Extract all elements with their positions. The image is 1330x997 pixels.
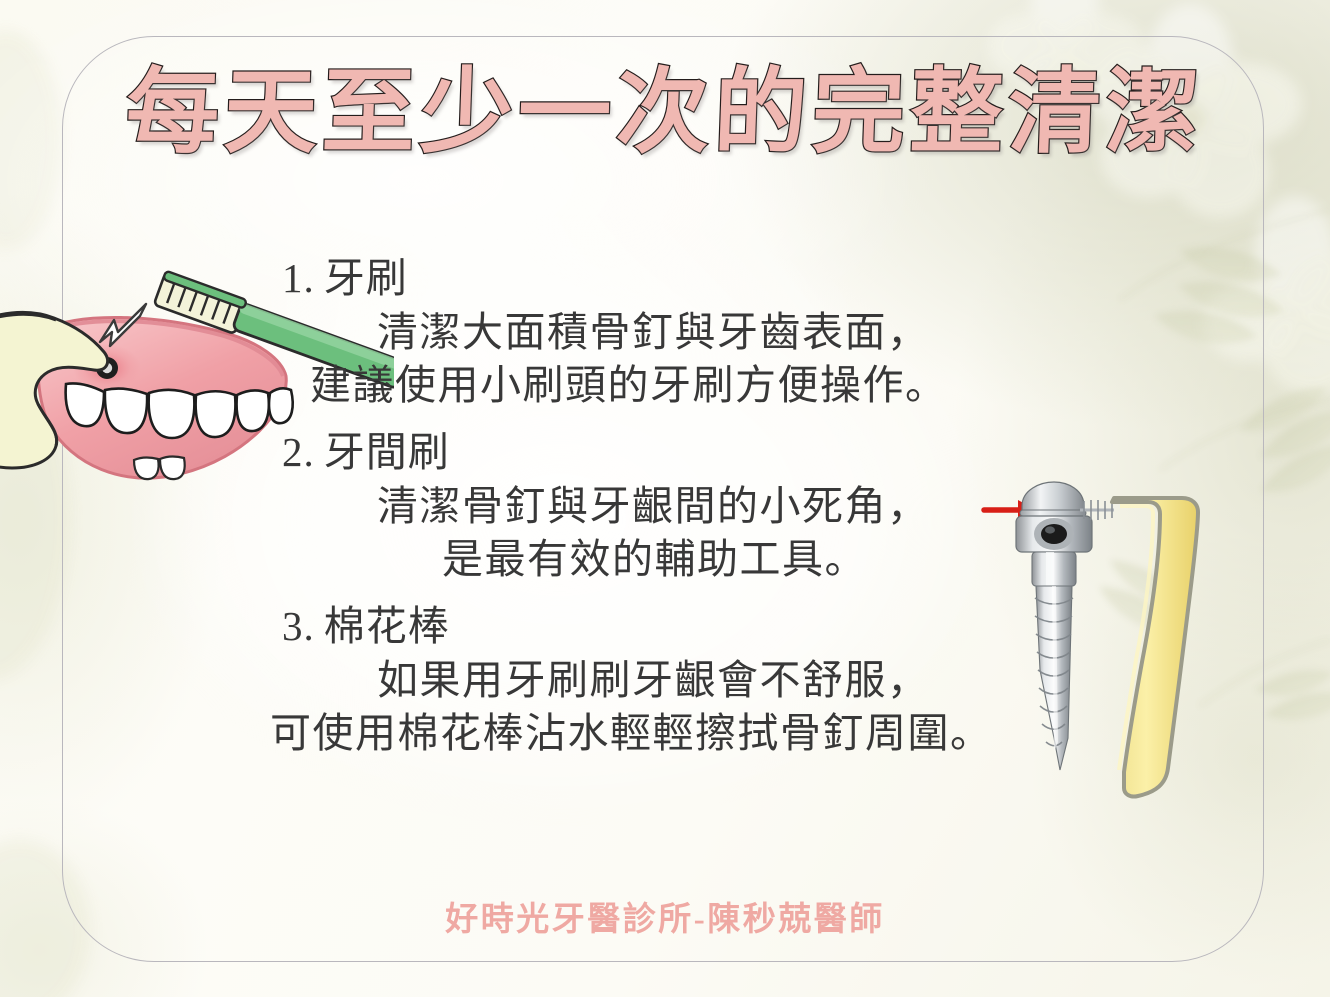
page-title: 每天至少一次的完整清潔 xyxy=(0,62,1330,166)
list-item: 2.牙間刷 清潔骨釘與牙齦間的小死角， 是最有效的輔助工具。 xyxy=(282,432,1022,580)
instruction-list: 1.牙刷 清潔大面積骨釘與牙齒表面， 建議使用小刷頭的牙刷方便操作。 2.牙間刷… xyxy=(282,258,1022,766)
interdental-brush-icon xyxy=(1080,498,1198,797)
slide-canvas: 每天至少一次的完整清潔 xyxy=(0,0,1330,997)
item-title: 棉花棒 xyxy=(324,603,450,649)
item-heading: 1.牙刷 xyxy=(282,258,1022,299)
item-heading: 3.棉花棒 xyxy=(282,606,1022,647)
item-number: 3. xyxy=(282,603,315,649)
item-number: 2. xyxy=(282,429,315,475)
item-line: 清潔大面積骨釘與牙齒表面， xyxy=(282,312,1022,353)
item-title: 牙刷 xyxy=(324,255,408,301)
footer-credit: 好時光牙醫診所-陳秒兢醫師 xyxy=(0,892,1330,940)
item-line: 是最有效的輔助工具。 xyxy=(282,539,1022,580)
orthodontic-miniscrew-icon xyxy=(1016,482,1092,770)
list-item: 3.棉花棒 如果用牙刷刷牙齦會不舒服， 可使用棉花棒沾水輕輕擦拭骨釘周圍。 xyxy=(282,606,1022,754)
item-line: 如果用牙刷刷牙齦會不舒服， xyxy=(282,660,1022,701)
item-heading: 2.牙間刷 xyxy=(282,432,1022,473)
list-item: 1.牙刷 清潔大面積骨釘與牙齒表面， 建議使用小刷頭的牙刷方便操作。 xyxy=(282,258,1022,406)
item-number: 1. xyxy=(282,255,315,301)
item-line: 可使用棉花棒沾水輕輕擦拭骨釘周圍。 xyxy=(256,713,1022,754)
item-line: 建議使用小刷頭的牙刷方便操作。 xyxy=(282,365,1022,406)
item-title: 牙間刷 xyxy=(324,429,450,475)
item-line: 清潔骨釘與牙齦間的小死角， xyxy=(282,486,1022,527)
